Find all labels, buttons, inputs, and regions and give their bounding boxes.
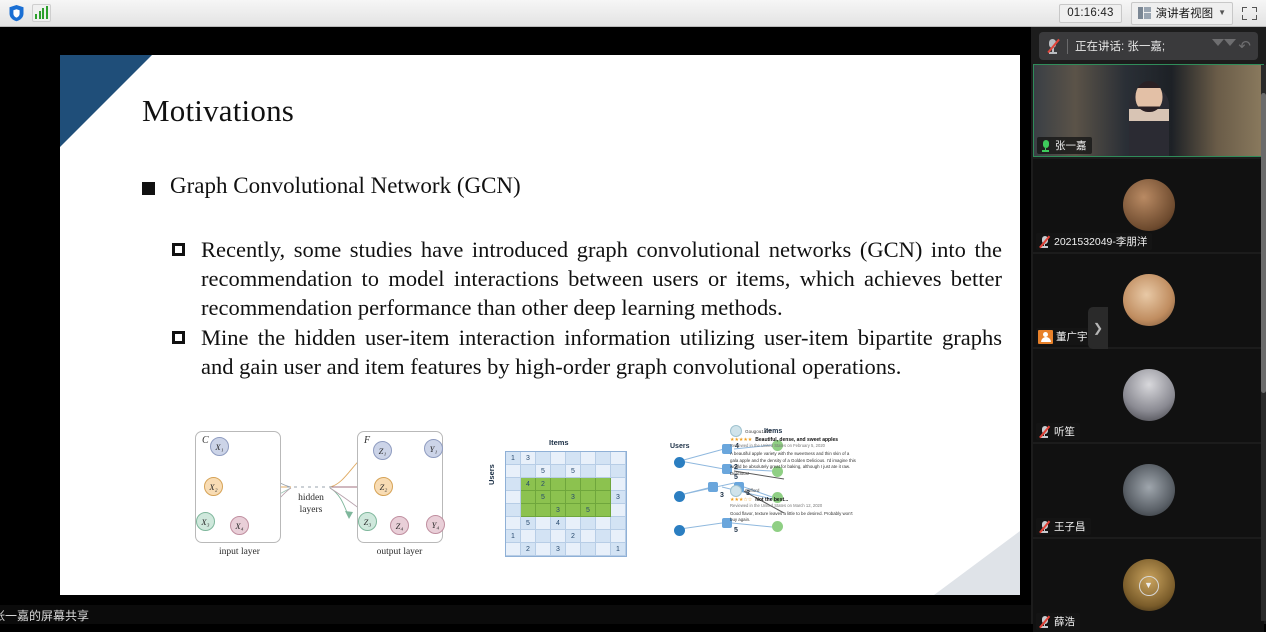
participant-name: 张一嘉: [1055, 138, 1087, 153]
matrix-users-label: Users: [487, 464, 496, 485]
undo-arrow-icon[interactable]: ↶: [1238, 39, 1251, 54]
gcn-input-caption: input layer: [187, 547, 292, 557]
gcn-node-z4: Z₄: [390, 516, 409, 535]
participant-tile[interactable]: 2021532049-李朋洋: [1033, 159, 1264, 252]
matrix-cell: 2: [566, 530, 581, 543]
gcn-node-z2: Z₂: [374, 477, 393, 496]
meeting-timer: 01:16:43: [1059, 4, 1121, 23]
matrix-cell: [536, 517, 551, 530]
fullscreen-icon[interactable]: [1242, 7, 1257, 20]
review-meta: Reviewed in the United States on March 1…: [730, 503, 856, 509]
bipartite-users-label: Users: [670, 443, 689, 450]
view-mode-selector[interactable]: 演讲者视图 ▼: [1131, 2, 1233, 25]
gcn-node-x2: X₂: [204, 477, 223, 496]
matrix-cell: 1: [506, 452, 521, 465]
matrix-cell: [521, 530, 536, 543]
topbar-right-controls: 01:16:43 演讲者视图 ▼: [1059, 2, 1266, 25]
gcn-input-box-label: C: [202, 435, 209, 446]
matrix-cell: [506, 491, 521, 504]
matrix-cell: [566, 543, 581, 556]
matrix-cell: 5: [581, 504, 596, 517]
matrix-cell: 3: [611, 491, 626, 504]
participant-tile[interactable]: 听笙: [1033, 349, 1264, 442]
bipartite-edge-node: [708, 482, 718, 492]
review-header: Gougou1473: [730, 425, 856, 437]
bullet-square-solid-icon: [142, 182, 155, 195]
gcn-node-z3: Z₃: [358, 512, 377, 531]
microphone-orange-icon[interactable]: [1038, 330, 1053, 344]
matrix-cell: [611, 452, 626, 465]
slide-bullet-2-text: Mine the hidden user-item interaction in…: [201, 323, 1002, 381]
page-title: Motivations: [142, 93, 294, 129]
matrix-cell: [506, 504, 521, 517]
matrix-cell: [506, 465, 521, 478]
participant-tile[interactable]: 张一嘉: [1033, 64, 1264, 157]
security-shield-icon[interactable]: [8, 4, 25, 22]
figure-reviews-panel: Gougou1473 ★★★★★ Beautiful, dense, and s…: [730, 425, 856, 555]
matrix-cell: [506, 543, 521, 556]
slide-corner-triangle: [60, 55, 152, 147]
topbar-left-icons: [0, 4, 51, 22]
review-stars: ★★★☆☆: [730, 497, 752, 503]
matrix-cell: [566, 478, 581, 491]
bullet-square-hollow-icon: [172, 331, 185, 344]
matrix-cell: [611, 465, 626, 478]
matrix-cell: [596, 543, 611, 556]
bipartite-user-node: [674, 491, 685, 502]
avatar: [730, 425, 742, 437]
matrix-items-label: Items: [549, 438, 569, 447]
matrix-cell: 1: [611, 543, 626, 556]
matrix-cell: [581, 543, 596, 556]
avatar: [1123, 368, 1175, 420]
review-title: Not the best...: [755, 497, 788, 503]
matrix-cell: [521, 491, 536, 504]
matrix-cell: 2: [521, 543, 536, 556]
avatar: [1123, 273, 1175, 325]
participant-tile[interactable]: 董广宇: [1033, 254, 1264, 347]
participant-tiles: 张一嘉 2021532049-李朋洋 董广宇: [1031, 64, 1266, 624]
network-signal-icon[interactable]: [32, 4, 51, 22]
review-body: A beautiful apple variety with the sweet…: [730, 451, 856, 477]
participant-name-badge: 张一嘉: [1037, 137, 1092, 154]
slide-bullet-level1-label: Graph Convolutional Network (GCN): [170, 173, 521, 199]
matrix-cell: 1: [506, 530, 521, 543]
microphone-muted-icon[interactable]: [1038, 520, 1051, 534]
matrix-cell: [521, 465, 536, 478]
matrix-cell: [551, 465, 566, 478]
slide-bullet-1-text: Recently, some studies have introduced g…: [201, 235, 1002, 322]
matrix-cell: [611, 517, 626, 530]
matrix-cell: [551, 530, 566, 543]
participant-tile[interactable]: ▼ 薛浩: [1033, 539, 1264, 632]
matrix-cell: [566, 504, 581, 517]
microphone-on-icon[interactable]: [1039, 139, 1052, 153]
matrix-cell: [581, 478, 596, 491]
matrix-cell: 5: [566, 465, 581, 478]
speaker-view-icon: [1138, 7, 1151, 19]
active-speaker-bar: 正在讲话: 张一嘉; ↶: [1039, 32, 1258, 60]
panel-scrollbar[interactable]: [1261, 65, 1266, 621]
presentation-slide: Motivations Graph Convolutional Network …: [60, 55, 1020, 595]
matrix-cell: 5: [536, 465, 551, 478]
avatar: [1123, 178, 1175, 230]
matrix-cell: [536, 452, 551, 465]
review-username: Gougou1473: [745, 429, 772, 434]
slide-figure-row: C F X₁ X₂ X₃ X₄ Z₁ Z₂ Z₃ Z₄ Y₁ Y₄ hidden…: [132, 425, 952, 575]
matrix-cell: 4: [521, 478, 536, 491]
bipartite-user-node: [674, 525, 685, 536]
matrix-cell: [506, 478, 521, 491]
matrix-cell: [536, 530, 551, 543]
matrix-cell: 3: [551, 543, 566, 556]
matrix-cell: [611, 530, 626, 543]
matrix-cell: [611, 504, 626, 517]
participant-name: 董广宇: [1056, 329, 1088, 344]
matrix-cell: [581, 452, 596, 465]
participant-name: 2021532049-李朋洋: [1054, 234, 1147, 249]
matrix-cell: 2: [536, 478, 551, 491]
review-username: Clifford: [745, 488, 759, 493]
view-mode-label: 演讲者视图: [1156, 5, 1214, 21]
slide-bullet-level1: Graph Convolutional Network (GCN): [142, 173, 521, 199]
double-chevron-icon[interactable]: [1212, 39, 1236, 53]
shared-screen-stage[interactable]: Motivations Graph Convolutional Network …: [0, 27, 1031, 605]
avatar: [1123, 463, 1175, 515]
gcn-output-caption: output layer: [347, 547, 452, 557]
active-speaker-label: 正在讲话: 张一嘉;: [1075, 38, 1165, 54]
screen-share-status-bar: 张一嘉的屏幕共享: [0, 605, 1031, 624]
avatar: [730, 485, 742, 497]
microphone-muted-icon[interactable]: [1038, 615, 1051, 629]
review-item: Gougou1473 ★★★★★ Beautiful, dense, and s…: [730, 425, 856, 478]
matrix-cell: 5: [521, 517, 536, 530]
review-body: Good flavor, texture leaves a little to …: [730, 511, 856, 524]
screen-share-status-text: 张一嘉的屏幕共享: [0, 607, 89, 624]
gcn-node-z1: Z₁: [373, 441, 392, 460]
matrix-cell: [551, 452, 566, 465]
matrix-cell: [596, 452, 611, 465]
gcn-node-y1: Y₁: [424, 439, 443, 458]
gcn-node-x4: X₄: [230, 516, 249, 535]
participant-name-badge: 王子昌: [1036, 518, 1091, 535]
participant-name: 薛浩: [1054, 614, 1075, 629]
review-meta: Reviewed in the United States on Februar…: [730, 443, 856, 449]
matrix-cell: [581, 491, 596, 504]
slide-bullet-1: Recently, some studies have introduced g…: [172, 235, 1002, 322]
matrix-cell: 5: [536, 491, 551, 504]
matrix-cell: [611, 478, 626, 491]
bullet-square-hollow-icon: [172, 243, 185, 256]
slide-bullet-2: Mine the hidden user-item interaction in…: [172, 323, 1002, 381]
matrix-cell: [596, 504, 611, 517]
matrix-cell: [536, 504, 551, 517]
gcn-hidden-layers-label: hidden layers: [285, 493, 337, 517]
participant-name: 听笙: [1054, 424, 1075, 439]
bipartite-weight: 3: [720, 492, 724, 499]
microphone-muted-icon[interactable]: [1038, 425, 1051, 439]
participants-panel: 正在讲话: 张一嘉; ↶ 张一嘉 2021: [1031, 27, 1266, 624]
matrix-cell: [521, 504, 536, 517]
matrix-cell: 3: [551, 504, 566, 517]
gcn-node-x1: X₁: [210, 437, 229, 456]
review-header: Clifford: [730, 485, 856, 497]
participant-name-badge: 薛浩: [1036, 613, 1080, 630]
matrix-cell: 3: [521, 452, 536, 465]
panel-header-actions: ↶: [1212, 39, 1251, 54]
participant-name-badge: 董广宇: [1036, 328, 1093, 345]
chevron-down-icon: ▼: [1218, 9, 1226, 17]
participant-name-badge: 听笙: [1036, 423, 1080, 440]
microphone-muted-icon[interactable]: [1046, 38, 1060, 54]
divider: [1067, 39, 1068, 54]
review-item: Clifford ★★★☆☆ Not the best... Reviewed …: [730, 485, 856, 524]
matrix-cell: 4: [551, 517, 566, 530]
matrix-cell: [581, 530, 596, 543]
matrix-cell: [581, 465, 596, 478]
matrix-cell: [506, 517, 521, 530]
matrix-cell: [581, 517, 596, 530]
matrix-cell: [596, 478, 611, 491]
matrix-cell: 3: [566, 491, 581, 504]
figure-gcn-diagram: C F X₁ X₂ X₃ X₄ Z₁ Z₂ Z₃ Z₄ Y₁ Y₄ hidden…: [187, 425, 432, 575]
participant-name: 王子昌: [1054, 519, 1086, 534]
matrix-cell: [596, 465, 611, 478]
participant-tile[interactable]: 王子昌: [1033, 444, 1264, 537]
gcn-output-box-label: F: [364, 435, 370, 446]
bipartite-user-node: [674, 457, 685, 468]
matrix-grid: 135542533355412231: [505, 451, 627, 557]
matrix-cell: [596, 517, 611, 530]
matrix-cell: [566, 517, 581, 530]
matrix-cell: [536, 543, 551, 556]
matrix-cell: [596, 491, 611, 504]
gcn-node-x3: X₃: [196, 512, 215, 531]
matrix-cell: [566, 452, 581, 465]
figure-rating-matrix: Items Users 135542533355412231: [487, 433, 687, 568]
matrix-cell: [551, 478, 566, 491]
gcn-node-y4: Y₄: [426, 515, 445, 534]
chevron-down-icon[interactable]: ▼: [1139, 576, 1159, 596]
chevron-right-icon[interactable]: ❯: [1088, 307, 1108, 349]
matrix-cell: [551, 491, 566, 504]
matrix-cell: [596, 530, 611, 543]
participant-name-badge: 2021532049-李朋洋: [1036, 233, 1152, 250]
video-person-head: [1135, 81, 1162, 112]
microphone-muted-icon[interactable]: [1038, 235, 1051, 249]
window-top-bar: 01:16:43 演讲者视图 ▼: [0, 0, 1266, 27]
